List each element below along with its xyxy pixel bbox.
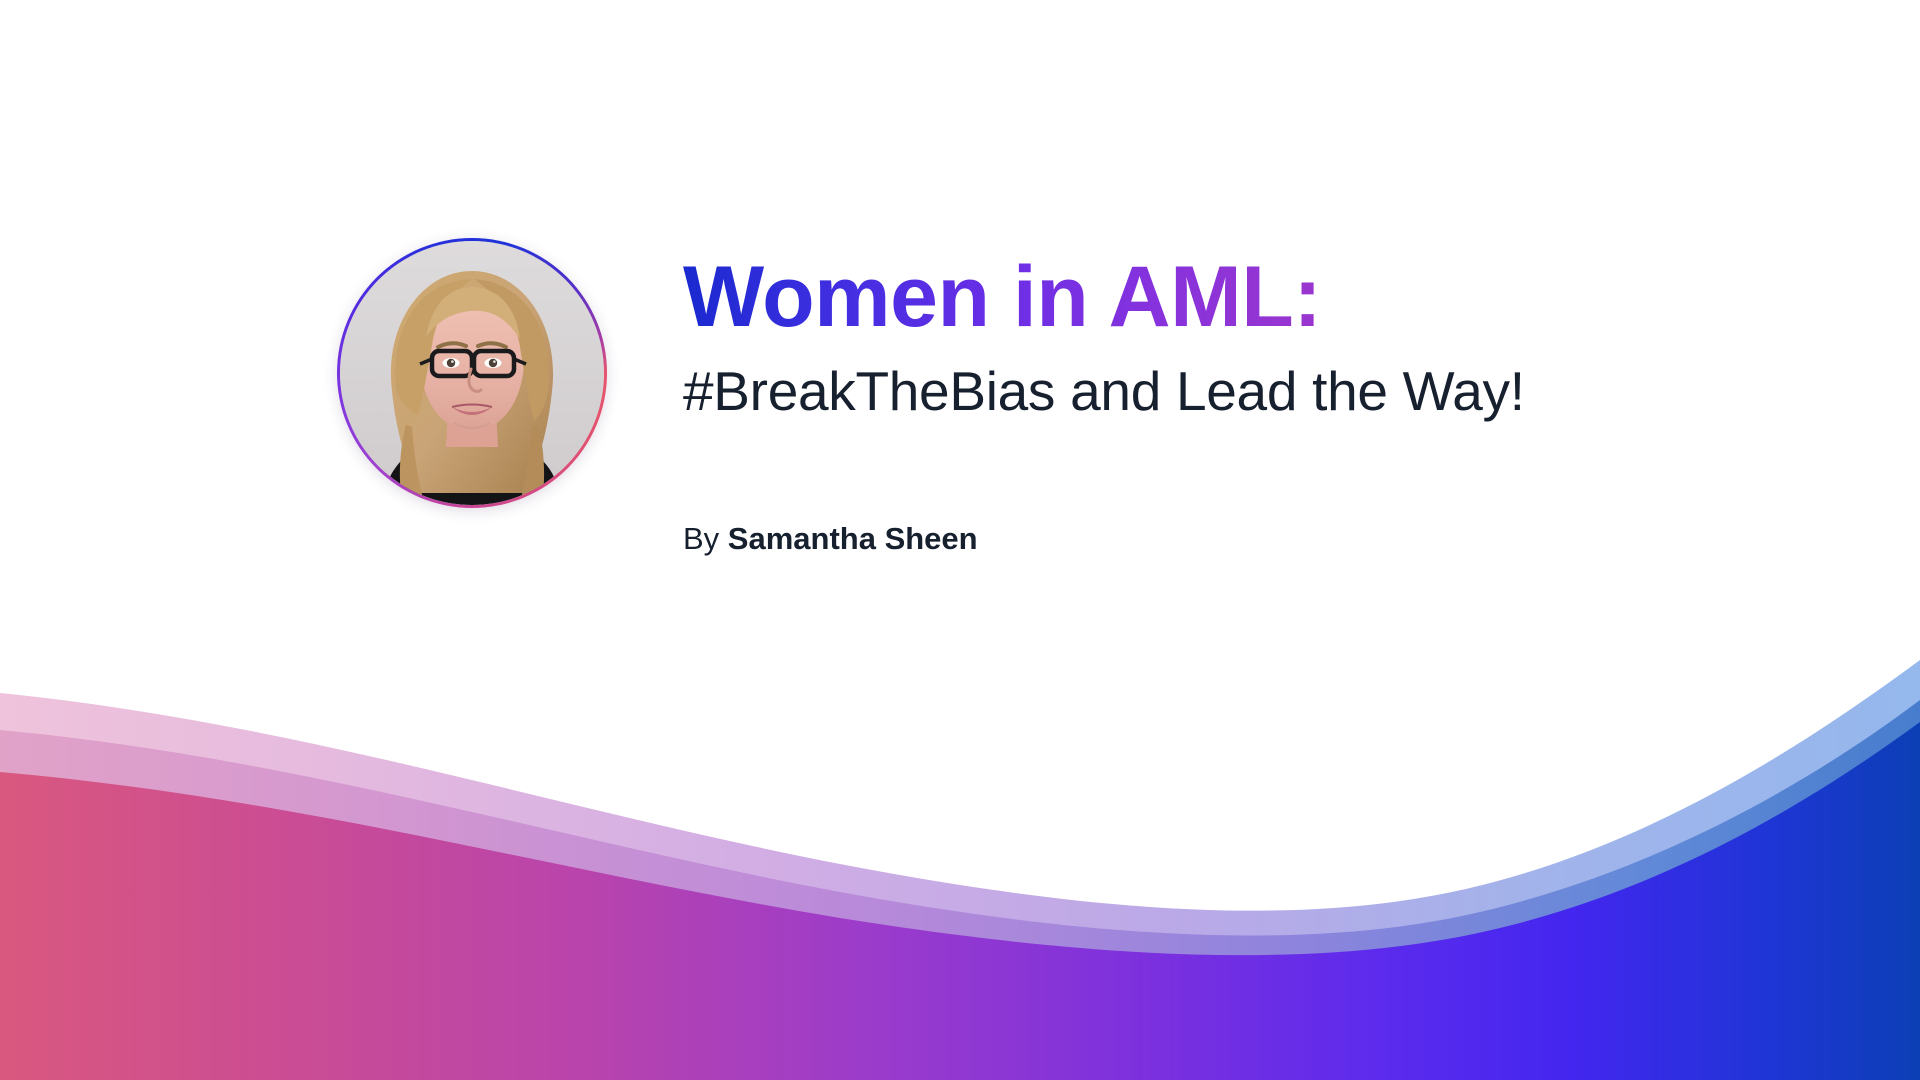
avatar-photo — [340, 241, 604, 505]
avatar — [337, 238, 607, 508]
byline: By Samantha Sheen — [683, 520, 1803, 557]
banner-root: Women in AML: #BreakTheBias and Lead the… — [0, 0, 1920, 1080]
byline-author: Samantha Sheen — [728, 521, 978, 556]
page-subtitle: #BreakTheBias and Lead the Way! — [683, 361, 1803, 423]
decorative-wave-graphic — [0, 660, 1920, 1080]
text-block: Women in AML: #BreakTheBias and Lead the… — [683, 252, 1803, 557]
page-title: Women in AML: — [683, 252, 1803, 343]
content-row: Women in AML: #BreakTheBias and Lead the… — [0, 0, 1920, 700]
byline-prefix: By — [683, 521, 728, 556]
